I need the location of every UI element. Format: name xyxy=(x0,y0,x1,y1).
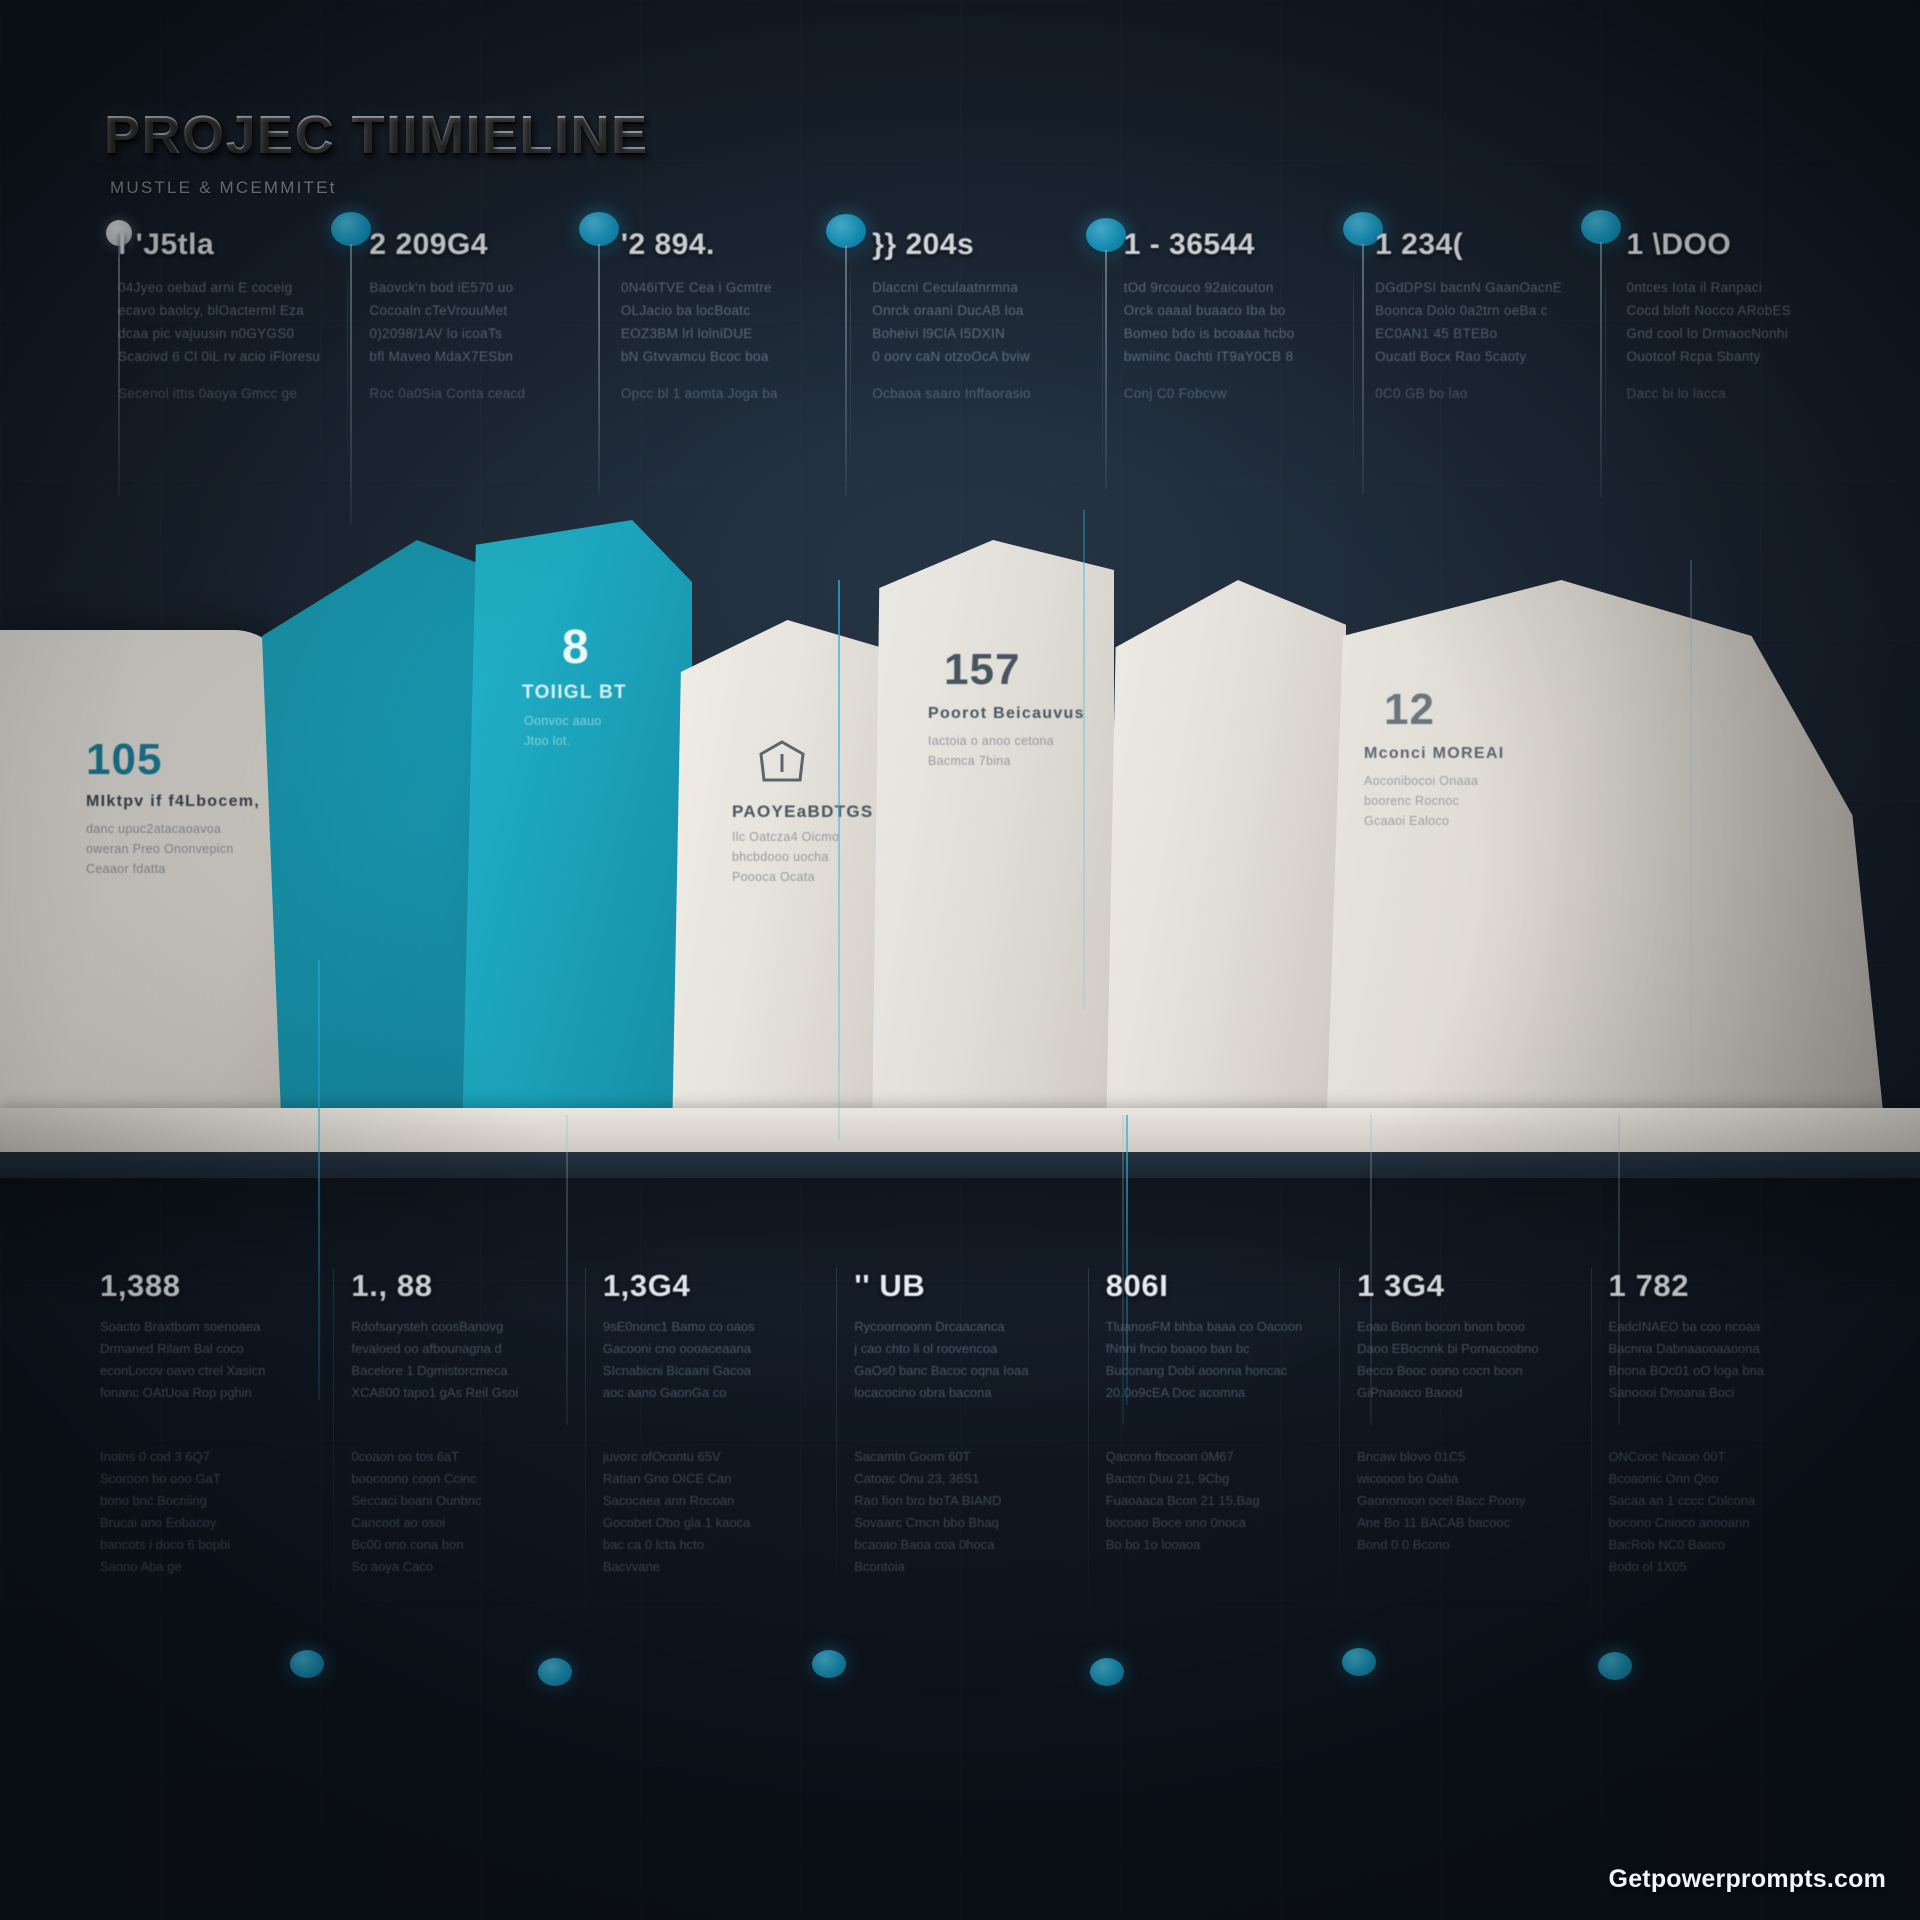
bottom-subtext-block-6: Bncaw blovo 01C5 wicoooo bo Oaba Gaonono… xyxy=(1357,1446,1604,1556)
bottom-node-dot-3[interactable] xyxy=(812,1650,846,1678)
milestone-line: Boonca Dolo 0a2trn oeBa c xyxy=(1375,299,1604,322)
top-milestone-card-4[interactable]: }} 204s Dlaccni Ceculaatnrmna Onrck oraa… xyxy=(850,228,1101,478)
bottom-subtext-block-2: 0coaon oo tos 6aT boocoono coon Ccinc Se… xyxy=(351,1446,598,1578)
milestone-line: Dacc bi lo lacca xyxy=(1627,382,1856,405)
panel-5-number: 157 xyxy=(944,645,1020,695)
bottom-subline: Ratian Gno OICE Can xyxy=(603,1468,850,1490)
milestone-line: Bomeo bdo is bcoaaa hcbo xyxy=(1124,322,1353,345)
bottom-column-2[interactable]: 1., 88 Rdofsarysteh coosBanovg fevaloed … xyxy=(347,1268,598,1688)
bottom-line: Bacelore 1 Dgmistorcmeca xyxy=(351,1360,598,1382)
bottom-node-dot-1[interactable] xyxy=(290,1650,324,1678)
bottom-subline: Qacono ftocoon 0M67 xyxy=(1106,1446,1353,1468)
bottom-line: fevaloed oo afbounagna d xyxy=(351,1338,598,1360)
milestone-stem-5 xyxy=(1105,250,1107,490)
top-milestone-card-5[interactable]: 1 - 36544 tOd 9rcouco 92aicouton Orck oa… xyxy=(1102,228,1353,478)
bottom-subline: Saono Aba ge xyxy=(100,1556,347,1578)
top-milestone-card-2[interactable]: 2 209G4 Baovck'n bod iE570 uo Cocoaln cT… xyxy=(347,228,598,478)
bottom-subline: wicoooo bo Oaba xyxy=(1357,1468,1604,1490)
bottom-column-1[interactable]: 1,388 Soacto Braxtbom soenoaea Drmaned R… xyxy=(96,1268,347,1688)
bottom-line: XCA800 tapo1 gAs Reil Gsoi xyxy=(351,1382,598,1404)
bottom-column-7[interactable]: 1 782 EadcINAEO ba coo ncoaa Bacnna Dabn… xyxy=(1605,1268,1856,1688)
bottom-value-4: '' UB xyxy=(854,1268,1101,1304)
bottom-text-block-3: 9sE0nonc1 Bamo co oaos Gacooni cno oooac… xyxy=(603,1316,850,1404)
panel-1-line: Ceaaor fdatta xyxy=(86,860,166,879)
bottom-text-block-7: EadcINAEO ba coo ncoaa Bacnna Dabnaaooaa… xyxy=(1609,1316,1856,1404)
panel-7[interactable]: 12 Mconci MOREAI Aoconibocoi Onaaa boore… xyxy=(1326,580,1886,1140)
bottom-value-6: 1 3G4 xyxy=(1357,1268,1604,1304)
milestone-line: OLJacio ba locBoatc xyxy=(621,299,850,322)
milestone-value-4: }} 204s xyxy=(872,228,1101,262)
bottom-node-dot-6[interactable] xyxy=(1598,1652,1632,1680)
panel-5-line: Bacmca 7bina xyxy=(928,752,1011,771)
bottom-subline: Bcoaonic Onn Qoo xyxy=(1609,1468,1856,1490)
milestone-text-block-6: DGdDPSI bacnN GaanOacnE Boonca Dolo 0a2t… xyxy=(1375,276,1604,405)
bottom-subline: Sovaarc Cmcn bbo Bhaq xyxy=(854,1512,1101,1534)
bottom-line: Eoao Bonn bocon bnon bcoo xyxy=(1357,1316,1604,1338)
bottom-column-6[interactable]: 1 3G4 Eoao Bonn bocon bnon bcoo Daoo EBo… xyxy=(1353,1268,1604,1688)
bottom-subline: Fuaoaaca Bcon 21 15,Bag xyxy=(1106,1490,1353,1512)
bottom-line: Gacooni cno oooaceaana xyxy=(603,1338,850,1360)
plinth-surface xyxy=(0,1108,1920,1152)
bottom-subline: BacRob NC0 Baoco xyxy=(1609,1534,1856,1556)
bottom-node-dot-2[interactable] xyxy=(538,1658,572,1686)
panel-4-line: Poooca Ocata xyxy=(732,868,815,887)
bottom-value-7: 1 782 xyxy=(1609,1268,1856,1304)
milestone-text-block-5: tOd 9rcouco 92aicouton Orck oaaal buaaco… xyxy=(1124,276,1353,405)
bottom-text-block-2: Rdofsarysteh coosBanovg fevaloed oo afbo… xyxy=(351,1316,598,1404)
bottom-line: EadcINAEO ba coo ncoaa xyxy=(1609,1316,1856,1338)
milestone-value-7: 1 \DOO xyxy=(1627,228,1856,262)
milestone-line: bN Gtvvamcu Bcoc boa xyxy=(621,345,850,368)
bottom-subline: Gocobet Obo gla 1 kaoca xyxy=(603,1512,850,1534)
bottom-line: TluanosFM bhba baaa co Oacoon xyxy=(1106,1316,1353,1338)
bottom-line: Becco Booc oono cocn boon xyxy=(1357,1360,1604,1382)
panel-3-number: 8 xyxy=(562,620,590,675)
bottom-subline: Rao fion bro boTA BIAND xyxy=(854,1490,1101,1512)
milestone-line: EC0AN1 45 BTEBo xyxy=(1375,322,1604,345)
milestone-line: DGdDPSI bacnN GaanOacnE xyxy=(1375,276,1604,299)
bottom-line: locacocino obra bacona xyxy=(854,1382,1101,1404)
bottom-line: j cao chto li ol roovencoa xyxy=(854,1338,1101,1360)
header: PROJEC TIIMIELINE MUSTLE & MCEMMITEt xyxy=(104,104,649,198)
bottom-value-1: 1,388 xyxy=(100,1268,347,1304)
milestone-line: Secenol ittis 0aoya Gmcc ge xyxy=(118,382,347,405)
milestone-line: Opcc bl 1 aomta Joga ba xyxy=(621,382,850,405)
milestone-node-dot-7[interactable] xyxy=(1581,210,1621,244)
bottom-subline: Bncaw blovo 01C5 xyxy=(1357,1446,1604,1468)
page-title: PROJEC TIIMIELINE xyxy=(104,104,649,166)
panel-5-label: Poorot Beicauvus xyxy=(928,705,1085,723)
bottom-subline: Bactcn Duu 21, 9Cbg xyxy=(1106,1468,1353,1490)
bottom-line: GaOs0 banc Bacoc oqna Ioaa xyxy=(854,1360,1101,1382)
bottom-subline: Cancoot ao osoi xyxy=(351,1512,598,1534)
bottom-subline: bcaoao Baoa coa 0hoca xyxy=(854,1534,1101,1556)
milestone-line: tOd 9rcouco 92aicouton xyxy=(1124,276,1353,299)
panel-1-content: 105 MIktpv if f4Lbocem, danc upuc2atacao… xyxy=(0,630,290,1140)
panel-5-line: Iactoia o anoo cetona xyxy=(928,732,1054,751)
bottom-line: 9sE0nonc1 Bamo co oaos xyxy=(603,1316,850,1338)
bottom-subline: bocoao Boce ono 0noca xyxy=(1106,1512,1353,1534)
bottom-subline: bac ca 0 lcta hcto xyxy=(603,1534,850,1556)
bottom-line: Bnona BOc01 oO loga bna xyxy=(1609,1360,1856,1382)
bottom-subtext-block-7: ONCooc Ncaoo 00T Bcoaonic Onn Qoo Sacaa … xyxy=(1609,1446,1856,1578)
panel-4-label: PAOYEaBDTGS xyxy=(732,802,874,822)
plinth-front-face xyxy=(0,1152,1920,1178)
panel-1-number: 105 xyxy=(86,735,162,785)
milestone-line: Gnd cool lo DrmaocNonhi xyxy=(1627,322,1856,345)
bottom-line: aoc aano GaonGa co xyxy=(603,1382,850,1404)
bottom-text-block-4: Rycoornoonn Drcaacanca j cao chto li ol … xyxy=(854,1316,1101,1404)
bottom-line: Buconang Dobi aoonna honcac xyxy=(1106,1360,1353,1382)
bottom-line: Soacto Braxtbom soenoaea xyxy=(100,1316,347,1338)
connector-line-8 xyxy=(1690,560,1692,1120)
bottom-value-3: 1,3G4 xyxy=(603,1268,850,1304)
bottom-subline: Catoac Onu 23, 36S1 xyxy=(854,1468,1101,1490)
milestone-line: 04Jyeo oebad arni E coceig xyxy=(118,276,347,299)
milestone-node-dot-4[interactable] xyxy=(826,214,866,248)
bottom-subline: ONCooc Ncaoo 00T xyxy=(1609,1446,1856,1468)
bottom-line: Rycoornoonn Drcaacanca xyxy=(854,1316,1101,1338)
bottom-subline: Bo bo 1o looaoa xyxy=(1106,1534,1353,1556)
panel-3-content: 8 TOIIGL BT Oonvoc aauo Jtoo lot. xyxy=(462,520,692,1140)
milestone-value-3: '2 894. xyxy=(621,228,850,262)
milestone-line: Onrck oraani DucAB loa xyxy=(872,299,1101,322)
bottom-line: fonanc OAtUoa Rop pghin xyxy=(100,1382,347,1404)
milestone-stem-6 xyxy=(1362,244,1364,494)
bottom-subline: Bodo ol 1X05 xyxy=(1609,1556,1856,1578)
milestone-stem-2 xyxy=(350,244,352,524)
panel-seam-teal-1 xyxy=(1083,510,1085,1010)
bottom-subline: Bc00 ono cona bon xyxy=(351,1534,598,1556)
panel-4-content: PAOYEaBDTGS Ilc Oatcza4 Oicmo bhcbdooo u… xyxy=(672,620,894,1140)
milestone-text-block-4: Dlaccni Ceculaatnrmna Onrck oraani DucAB… xyxy=(872,276,1101,405)
milestone-line: 0N46iTVE Cea i Gcmtre xyxy=(621,276,850,299)
milestone-line: 0ntces Iota il Ranpaci xyxy=(1627,276,1856,299)
bottom-line: Sanoooi Dnoana Boci xyxy=(1609,1382,1856,1404)
bottom-subline: boocoono coon Ccinc xyxy=(351,1468,598,1490)
milestone-line: ecavo baolcy, blOacterml Eza xyxy=(118,299,347,322)
panel-4-line: Ilc Oatcza4 Oicmo xyxy=(732,828,839,847)
milestone-stem-7 xyxy=(1600,242,1602,497)
panel-5-content: 157 Poorot Beicauvus Iactoia o anoo ceto… xyxy=(872,540,1114,1140)
bottom-line: 20.0o9cEA Doc acomna xyxy=(1106,1382,1353,1404)
panel-1-label: MIktpv if f4Lbocem, xyxy=(86,793,260,811)
bottom-line: econLocov oavo ctrel Xasicn xyxy=(100,1360,347,1382)
milestone-node-dot-2[interactable] xyxy=(331,212,371,246)
panel-4[interactable]: PAOYEaBDTGS Ilc Oatcza4 Oicmo bhcbdooo u… xyxy=(672,620,894,1140)
infographic-canvas: PROJEC TIIMIELINE MUSTLE & MCEMMITEt l '… xyxy=(0,0,1920,1920)
panel-3-line: Jtoo lot. xyxy=(524,732,570,751)
milestone-line: bfl Maveo MdaX7ESbn xyxy=(369,345,598,368)
panel-4-line: bhcbdooo uocha xyxy=(732,848,829,867)
milestone-stem-3 xyxy=(598,244,600,494)
bottom-text-block-5: TluanosFM bhba baaa co Oacoon fNnni fnci… xyxy=(1106,1316,1353,1404)
milestone-line: Scaoivd 6 Cl 0iL rv acio iFloresu xyxy=(118,345,347,368)
milestone-line: Roc 0a0Sia Conta ceacd xyxy=(369,382,598,405)
bottom-subtext-block-1: Inotns 0 cod 3 6Q7 Scoroon bo ooo GaT bo… xyxy=(100,1446,347,1578)
bottom-subtext-block-3: juvorc ofOcontu 65V Ratian Gno OICE Can … xyxy=(603,1446,850,1578)
milestone-line: Boheivi l9ClA I5DXIN xyxy=(872,322,1101,345)
milestone-text-block-3: 0N46iTVE Cea i Gcmtre OLJacio ba locBoat… xyxy=(621,276,850,405)
bottom-subline: Gaononoon ocel Bacc Poony xyxy=(1357,1490,1604,1512)
milestone-line: Conj C0 Fobcvw xyxy=(1124,382,1353,405)
bottom-line: fNnni fncio boaoo ban bc xyxy=(1106,1338,1353,1360)
bottom-line: Bacnna Dabnaaooaaoona xyxy=(1609,1338,1856,1360)
milestone-line: Cocd bloft Nocco ARobES xyxy=(1627,299,1856,322)
milestone-line: Ouotcof Rcpa Sbanty xyxy=(1627,345,1856,368)
bottom-column-5[interactable]: 806I TluanosFM bhba baaa co Oacoon fNnni… xyxy=(1102,1268,1353,1688)
bottom-column-4[interactable]: '' UB Rycoornoonn Drcaacanca j cao chto … xyxy=(850,1268,1101,1688)
bottom-subline: 0coaon oo tos 6aT xyxy=(351,1446,598,1468)
top-milestone-card-7[interactable]: 1 \DOO 0ntces Iota il Ranpaci Cocd bloft… xyxy=(1605,228,1856,478)
panel-1-line: danc upuc2atacaoavoa xyxy=(86,820,221,839)
milestone-line: bwniinc 0achti IT9aY0CB 8 xyxy=(1124,345,1353,368)
bottom-node-dot-5[interactable] xyxy=(1342,1648,1376,1676)
bottom-subline: Ane Bo 11 BACAB bacooc xyxy=(1357,1512,1604,1534)
bottom-line: Rdofsarysteh coosBanovg xyxy=(351,1316,598,1338)
milestone-node-dot-5[interactable] xyxy=(1086,218,1126,252)
bottom-text-block-6: Eoao Bonn bocon bnon bcoo Daoo EBocnnk b… xyxy=(1357,1316,1604,1404)
milestone-line: Oucatl Bocx Rao 5caoty xyxy=(1375,345,1604,368)
bottom-subline: Inotns 0 cod 3 6Q7 xyxy=(100,1446,347,1468)
connector-line-3 xyxy=(838,580,840,1140)
bottom-subline: Scoroon bo ooo GaT xyxy=(100,1468,347,1490)
bottom-subline: bancots i doco 6 bopbi xyxy=(100,1534,347,1556)
panel-7-line: boorenc Rocnoc xyxy=(1364,792,1459,811)
milestone-value-5: 1 - 36544 xyxy=(1124,228,1353,262)
bottom-value-5: 806I xyxy=(1106,1268,1353,1304)
bottom-value-2: 1., 88 xyxy=(351,1268,598,1304)
milestone-node-dot-3[interactable] xyxy=(579,212,619,246)
bottom-subline: bocono Cnioco anooann xyxy=(1609,1512,1856,1534)
milestone-stem-4 xyxy=(845,246,847,496)
bottom-subline: Bond 0 0 Bcono xyxy=(1357,1534,1604,1556)
milestone-line: dcaa pic vajuusin n0GYGS0 xyxy=(118,322,347,345)
bottom-subline: Sacocaea ann Rocoan xyxy=(603,1490,850,1512)
panel-3-line: Oonvoc aauo xyxy=(524,712,602,731)
milestone-line: Ocbaoa saaro Inffaorasio xyxy=(872,382,1101,405)
panel-7-content: 12 Mconci MOREAI Aoconibocoi Onaaa boore… xyxy=(1326,580,1886,1140)
bottom-detail-row: 1,388 Soacto Braxtbom soenoaea Drmaned R… xyxy=(96,1268,1856,1688)
panel-7-label: Mconci MOREAI xyxy=(1364,745,1504,763)
bottom-column-3[interactable]: 1,3G4 9sE0nonc1 Bamo co oaos Gacooni cno… xyxy=(599,1268,850,1688)
bottom-subline: So aoya Caco xyxy=(351,1556,598,1578)
milestone-value-2: 2 209G4 xyxy=(369,228,598,262)
milestone-value-1: l 'J5tla xyxy=(118,228,347,262)
bottom-subline: Brucai ano Eobacoy xyxy=(100,1512,347,1534)
panel-stage: 105 MIktpv if f4Lbocem, danc upuc2atacao… xyxy=(0,500,1920,1140)
bottom-subline: juvorc ofOcontu 65V xyxy=(603,1446,850,1468)
bottom-subtext-block-5: Qacono ftocoon 0M67 Bactcn Duu 21, 9Cbg … xyxy=(1106,1446,1353,1556)
bottom-subline: Sacaa an 1 cccc Colcona xyxy=(1609,1490,1856,1512)
milestone-value-6: 1 234( xyxy=(1375,228,1604,262)
bottom-subline: Bcontoia xyxy=(854,1556,1101,1578)
bottom-line: GiPnaoaco Baood xyxy=(1357,1382,1604,1404)
milestone-text-block-2: Baovck'n bod iE570 uo Cocoaln cTeVrouuMe… xyxy=(369,276,598,405)
hexagon-icon xyxy=(756,738,808,790)
panel-3-label: TOIIGL BT xyxy=(522,682,627,704)
milestone-line: 0)2098/1AV lo icoaTs xyxy=(369,322,598,345)
panel-1[interactable]: 105 MIktpv if f4Lbocem, danc upuc2atacao… xyxy=(0,630,290,1140)
milestone-line: Baovck'n bod iE570 uo xyxy=(369,276,598,299)
milestone-line: 0 oorv caN otzoOcA bviw xyxy=(872,345,1101,368)
milestone-line: 0C0 GB bo lao xyxy=(1375,382,1604,405)
top-milestone-card-1[interactable]: l 'J5tla 04Jyeo oebad arni E coceig ecav… xyxy=(96,228,347,478)
panel-6[interactable] xyxy=(1106,580,1346,1140)
watermark: Getpowerprompts.com xyxy=(1609,1865,1886,1894)
bottom-line: Daoo EBocnnk bi Pornacoobno xyxy=(1357,1338,1604,1360)
milestone-line: Dlaccni Ceculaatnrmna xyxy=(872,276,1101,299)
bottom-subline: Bacvvane xyxy=(603,1556,850,1578)
top-milestone-card-3[interactable]: '2 894. 0N46iTVE Cea i Gcmtre OLJacio ba… xyxy=(599,228,850,478)
page-subtitle: MUSTLE & MCEMMITEt xyxy=(110,178,649,198)
bottom-line: Drmaned Rilam Bal coco xyxy=(100,1338,347,1360)
panel-7-line: Aoconibocoi Onaaa xyxy=(1364,772,1478,791)
bottom-subline: Sacamtn Goom 60T xyxy=(854,1446,1101,1468)
bottom-line: SIcnabicni Bicaani Gacoa xyxy=(603,1360,850,1382)
panel-5[interactable]: 157 Poorot Beicauvus Iactoia o anoo ceto… xyxy=(872,540,1114,1140)
panel-7-line: Gcaaoi Ealoco xyxy=(1364,812,1449,831)
bottom-subline: bono bnc Bocniing xyxy=(100,1490,347,1512)
milestone-text-block-7: 0ntces Iota il Ranpaci Cocd bloft Nocco … xyxy=(1627,276,1856,405)
milestone-line: Cocoaln cTeVrouuMet xyxy=(369,299,598,322)
milestone-line: EOZ3BM lrl lolniDUE xyxy=(621,322,850,345)
panel-7-number: 12 xyxy=(1384,685,1435,735)
panel-3[interactable]: 8 TOIIGL BT Oonvoc aauo Jtoo lot. xyxy=(462,520,692,1140)
milestone-text-block-1: 04Jyeo oebad arni E coceig ecavo baolcy,… xyxy=(118,276,347,405)
top-milestone-card-6[interactable]: 1 234( DGdDPSI bacnN GaanOacnE Boonca Do… xyxy=(1353,228,1604,478)
panel-1-line: oweran Preo Ononvepicn xyxy=(86,840,234,859)
bottom-subline: Seccaci boani Ounbnc xyxy=(351,1490,598,1512)
bottom-node-dot-4[interactable] xyxy=(1090,1658,1124,1686)
bottom-text-block-1: Soacto Braxtbom soenoaea Drmaned Rilam B… xyxy=(100,1316,347,1404)
bottom-subtext-block-4: Sacamtn Goom 60T Catoac Onu 23, 36S1 Rao… xyxy=(854,1446,1101,1578)
milestone-line: Orck oaaal buaaco Iba bo xyxy=(1124,299,1353,322)
top-milestone-row: l 'J5tla 04Jyeo oebad arni E coceig ecav… xyxy=(96,228,1856,478)
